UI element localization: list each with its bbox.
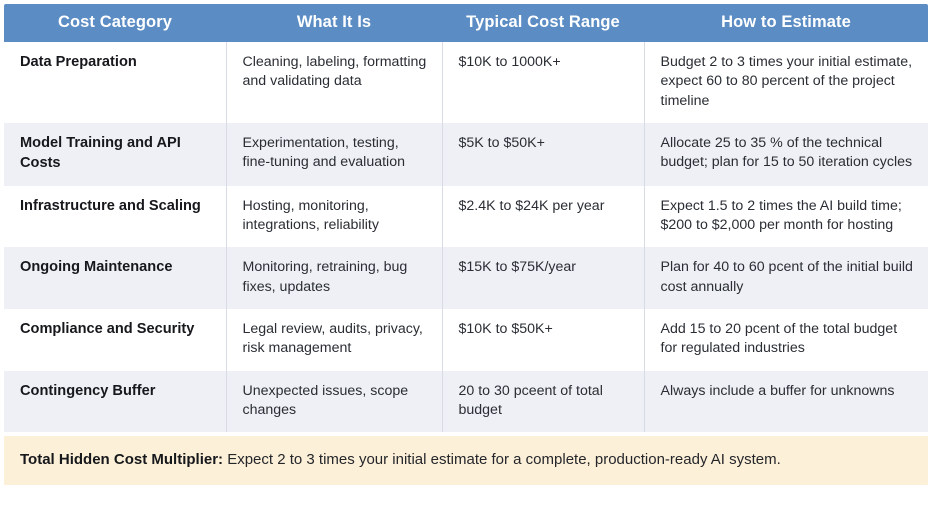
cell-cost-category: Model Training and API Costs [4, 123, 226, 186]
cell-cost-category: Contingency Buffer [4, 371, 226, 433]
table-row: Contingency Buffer Unexpected issues, sc… [4, 371, 928, 433]
table-header: Cost Category What It Is Typical Cost Ra… [4, 4, 928, 42]
cell-what-it-is: Legal review, audits, privacy, risk mana… [226, 309, 442, 371]
column-header-typical-cost-range: Typical Cost Range [442, 4, 644, 42]
table-row: Data Preparation Cleaning, labeling, for… [4, 42, 928, 123]
total-hidden-cost-callout: Total Hidden Cost Multiplier: Expect 2 t… [4, 436, 928, 485]
cell-cost-category: Compliance and Security [4, 309, 226, 371]
cell-typical-cost-range: $2.4K to $24K per year [442, 186, 644, 248]
cell-what-it-is: Hosting, monitoring, integrations, relia… [226, 186, 442, 248]
cell-how-to-estimate: Always include a buffer for unknowns [644, 371, 928, 433]
callout-body-text: Expect 2 to 3 times your initial estimat… [223, 451, 781, 468]
column-header-cost-category: Cost Category [4, 4, 226, 42]
cell-what-it-is: Experimentation, testing, fine-tuning an… [226, 123, 442, 186]
cell-typical-cost-range: $10K to 1000K+ [442, 42, 644, 123]
cell-typical-cost-range: $5K to $50K+ [442, 123, 644, 186]
cell-how-to-estimate: Add 15 to 20 pcent of the total budget f… [644, 309, 928, 371]
cell-cost-category: Infrastructure and Scaling [4, 186, 226, 248]
cell-cost-category: Ongoing Maintenance [4, 247, 226, 309]
callout-lead-label: Total Hidden Cost Multiplier: [20, 451, 223, 468]
table-row: Model Training and API Costs Experimenta… [4, 123, 928, 186]
cell-what-it-is: Monitoring, retraining, bug fixes, updat… [226, 247, 442, 309]
cell-how-to-estimate: Plan for 40 to 60 pcent of the initial b… [644, 247, 928, 309]
cell-how-to-estimate: Budget 2 to 3 times your initial estimat… [644, 42, 928, 123]
cell-typical-cost-range: 20 to 30 pceent of total budget [442, 371, 644, 433]
cell-cost-category: Data Preparation [4, 42, 226, 123]
cell-what-it-is: Cleaning, labeling, formatting and valid… [226, 42, 442, 123]
cell-how-to-estimate: Allocate 25 to 35 % of the technical bud… [644, 123, 928, 186]
cell-typical-cost-range: $10K to $50K+ [442, 309, 644, 371]
table-row: Ongoing Maintenance Monitoring, retraini… [4, 247, 928, 309]
table-body: Data Preparation Cleaning, labeling, for… [4, 42, 928, 432]
cell-typical-cost-range: $15K to $75K/year [442, 247, 644, 309]
table-row: Compliance and Security Legal review, au… [4, 309, 928, 371]
cell-what-it-is: Unexpected issues, scope changes [226, 371, 442, 433]
table-header-row: Cost Category What It Is Typical Cost Ra… [4, 4, 928, 42]
column-header-what-it-is: What It Is [226, 4, 442, 42]
column-header-how-to-estimate: How to Estimate [644, 4, 928, 42]
cost-table-infographic: Cost Category What It Is Typical Cost Ra… [0, 0, 932, 522]
hidden-ai-cost-table: Cost Category What It Is Typical Cost Ra… [4, 4, 928, 432]
cell-how-to-estimate: Expect 1.5 to 2 times the AI build time;… [644, 186, 928, 248]
table-row: Infrastructure and Scaling Hosting, moni… [4, 186, 928, 248]
